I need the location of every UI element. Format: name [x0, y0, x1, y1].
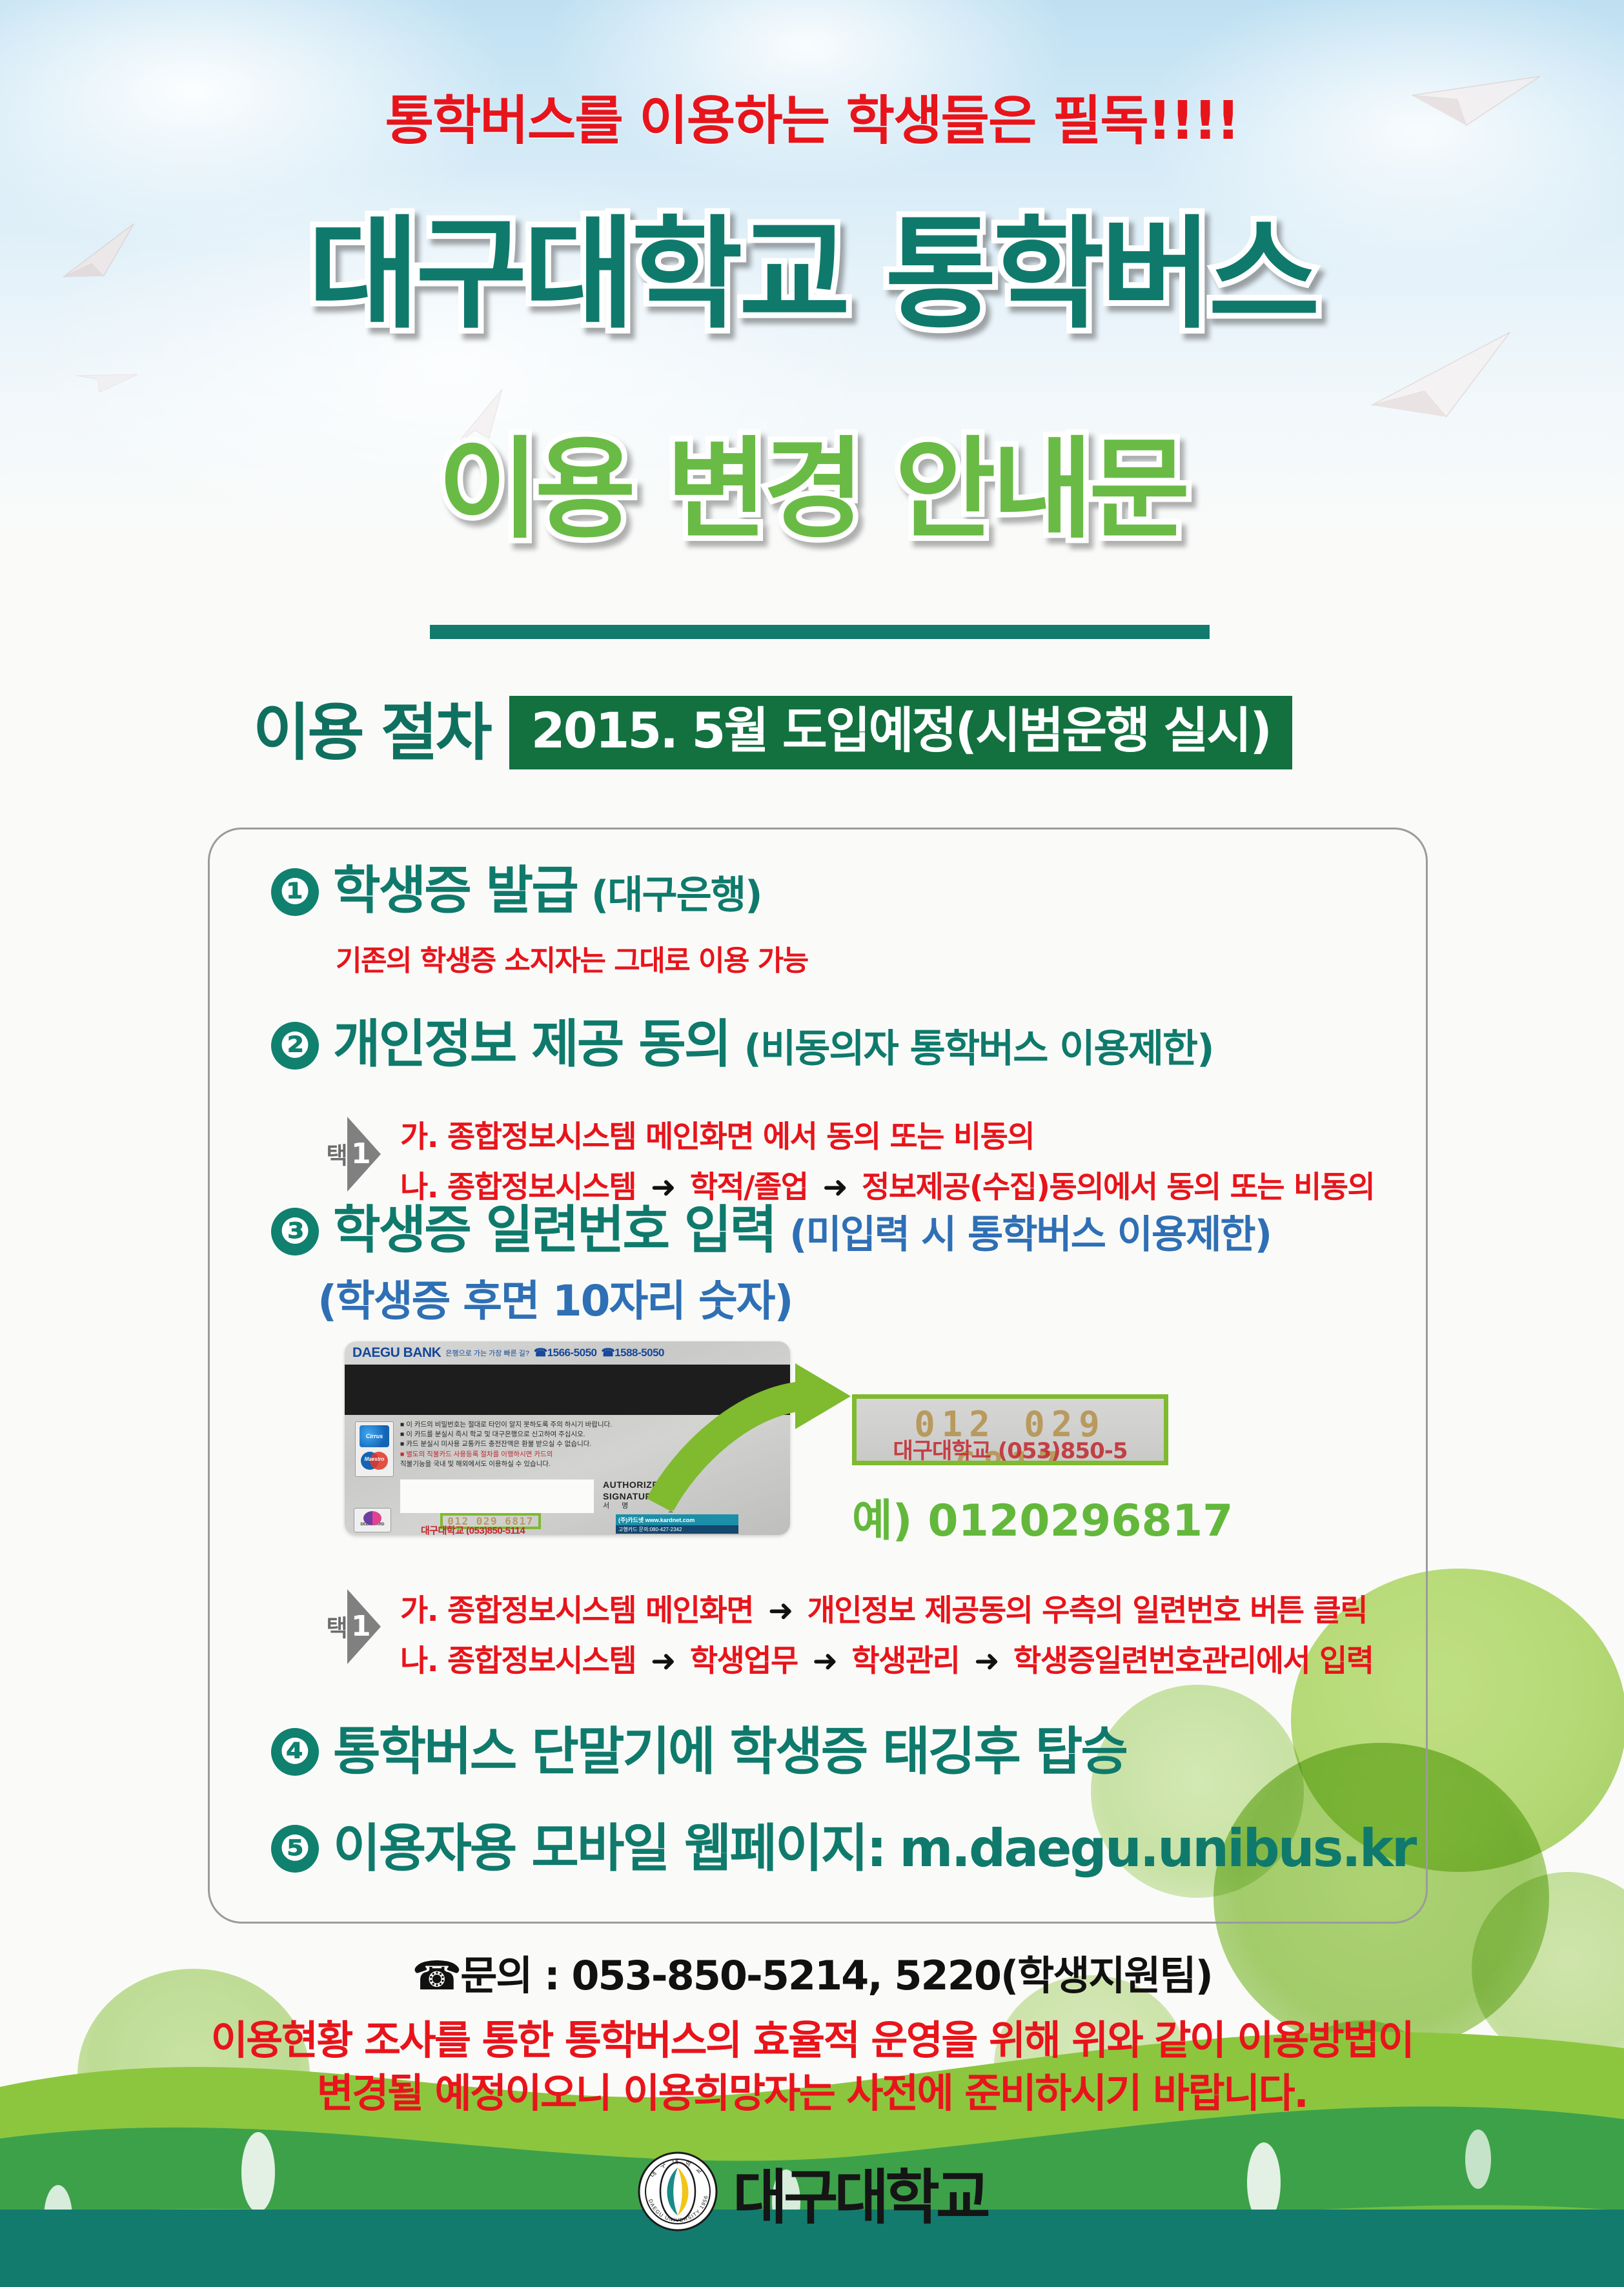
option-prefix: 가. [400, 1119, 438, 1155]
section-header: 이용 절차 2015. 5월 도입예정(시범운행 실시) [253, 696, 1292, 769]
step-number: ❹ [271, 1728, 319, 1776]
pick-label: 택 [323, 1616, 346, 1638]
maestro-label: Maestro [360, 1456, 389, 1462]
step-5: ❺ 이용자용 모바일 웹페이지: m.daegu.unibus.kr [271, 1822, 1415, 1876]
option-row: 나. 종합정보시스템 ➜ 학생업무 ➜ 학생관리 ➜ 학생증일련번호관리에서 입… [400, 1636, 1374, 1680]
option-part: 종합정보시스템 메인화면 [447, 1593, 753, 1629]
card-network-logos: Cirrus Maestro [355, 1421, 394, 1477]
card-bank-tel-2: ☎1588-5050 [602, 1347, 664, 1359]
kardnet-line-1: (주)카드넷 www.kardnet.com [616, 1514, 738, 1525]
card-university-line: 대구대학교 (053)850-5114 [421, 1523, 525, 1535]
step-number: ❷ [271, 1022, 319, 1070]
pick-count: 1 [351, 1612, 371, 1641]
contact-line: ☎문의 : 053-850-5214, 5220(학생지원팀) [0, 1943, 1624, 2001]
option-row: 가. 종합정보시스템 메인화면 ➜ 개인정보 제공동의 우측의 일련번호 버튼 … [400, 1585, 1367, 1630]
pick-count: 1 [351, 1140, 371, 1168]
notice-line-1: 이용현황 조사를 통한 통학버스의 효율적 운영을 위해 위와 같이 이용방법이 [0, 2014, 1624, 2067]
step-3-subtitle: (학생증 후면 10자리 숫자) [318, 1266, 793, 1328]
option-row: 가. 종합정보시스템 메인화면 에서 동의 또는 비동의 [400, 1112, 1034, 1156]
university-name: 대구대학교 [733, 2150, 986, 2235]
arrow-icon: ➜ [817, 1170, 852, 1205]
university-brand: 대 구 대 학 교 DAEGU UNIVERSITY 1956 대구대학교 [0, 2150, 1624, 2235]
step-4: ❹ 통학버스 단말기에 학생증 태깅후 탑승 [271, 1725, 1126, 1779]
section-label: 이용 절차 [253, 702, 490, 764]
pick-triangle-icon: 1 [347, 1117, 381, 1192]
card-bank-header: DAEGU BANK 은행으로 가는 가장 빠른 길? ☎1566-5050 ☎… [345, 1341, 790, 1365]
step-paren: (비동의자 통학버스 이용제한) [744, 1017, 1213, 1073]
arrow-icon: ➜ [969, 1643, 1004, 1679]
step-title: 이용자용 모바일 웹페이지: [333, 1822, 885, 1876]
option-part: 종합정보시스템 [447, 1643, 636, 1679]
option-prefix: 나. [400, 1643, 438, 1679]
arrow-icon: ➜ [763, 1593, 798, 1629]
pick-one-marker: 택 1 [323, 1117, 381, 1192]
kardnet-block: (주)카드넷 www.kardnet.com 고행카드 문의:080-427-2… [616, 1514, 738, 1532]
zoom-under-text: 대구대학교 (053)850-5 [857, 1433, 1164, 1465]
signature-panel [400, 1479, 594, 1513]
status-badge: 2015. 5월 도입예정(시범운행 실시) [509, 696, 1292, 769]
page-title: 대구대학교 통학버스 [0, 213, 1624, 337]
step-number: ❸ [271, 1208, 319, 1255]
pick-label: 택 [323, 1143, 346, 1165]
notice-block: 이용현황 조사를 통한 통학버스의 효율적 운영을 위해 위와 같이 이용방법이… [0, 2014, 1624, 2120]
step-title: 학생증 일련번호 입력 [333, 1203, 775, 1257]
step-title: 개인정보 제공 동의 [333, 1017, 730, 1072]
step-3: ❸ 학생증 일련번호 입력 (미입력 시 통학버스 이용제한) [271, 1203, 1271, 1259]
step-paren: (미입력 시 통학버스 이용제한) [789, 1203, 1271, 1259]
title-divider [430, 625, 1210, 639]
option-part: 정보제공(수집)동의에서 동의 또는 비동의 [862, 1170, 1374, 1205]
option-part: 학생관리 [851, 1643, 959, 1679]
university-seal-icon: 대 구 대 학 교 DAEGU UNIVERSITY 1956 [637, 2151, 718, 2235]
notice-line-2: 변경될 예정이오니 이용희망자는 사전에 준비하시기 바랍니다. [0, 2067, 1624, 2120]
pick-one-marker: 택 1 [323, 1589, 381, 1664]
card-bank-name: DAEGU BANK [352, 1345, 441, 1361]
kicker-text: 통학버스를 이용하는 학생들은 필독!!!! [0, 77, 1624, 154]
step-number: ❶ [271, 868, 319, 916]
step-1-note: 기존의 학생증 소지자는 그대로 이용 가능 [336, 937, 808, 979]
serial-example: 예) 0120296817 [852, 1485, 1233, 1549]
option-part: 학생업무 [690, 1643, 798, 1679]
poster-root: 통학버스를 이용하는 학생들은 필독!!!! 대구대학교 통학버스 이용 변경 … [0, 0, 1624, 2287]
serial-zoom-callout: 012 029 6817 대구대학교 (053)850-5 [852, 1394, 1168, 1465]
step-title: 통학버스 단말기에 학생증 태깅후 탑승 [333, 1725, 1126, 1779]
pick-triangle-icon: 1 [347, 1589, 381, 1664]
card-bank-slogan: 은행으로 가는 가장 빠른 길? [445, 1348, 529, 1358]
maestro-icon: Maestro [360, 1450, 389, 1472]
step-paren: (대구은행) [591, 864, 762, 920]
arrow-icon: ➜ [807, 1643, 842, 1679]
page-subtitle: 이용 변경 안내문 [0, 400, 1624, 559]
option-part: 종합정보시스템 메인화면 에서 동의 또는 비동의 [447, 1119, 1034, 1155]
step-2: ❷ 개인정보 제공 동의 (비동의자 통학버스 이용제한) [271, 1017, 1213, 1073]
kardnet-line-2: 고행카드 문의:080-427-2342 [616, 1525, 738, 1534]
step-number: ❺ [271, 1825, 319, 1873]
step-1: ❶ 학생증 발급 (대구은행) [271, 864, 762, 920]
option-part: 학생증일련번호관리에서 입력 [1013, 1643, 1373, 1679]
debit-card-logo: DEBIT CARD [354, 1508, 391, 1532]
mobile-web-url[interactable]: m.daegu.unibus.kr [899, 1822, 1415, 1876]
option-part: 개인정보 제공동의 우측의 일련번호 버튼 클릭 [807, 1593, 1367, 1629]
cirrus-icon: Cirrus [360, 1425, 389, 1447]
card-bank-tel-1: ☎1566-5050 [534, 1347, 596, 1359]
callout-arrow-icon [645, 1362, 865, 1513]
arrow-icon: ➜ [645, 1643, 680, 1679]
step-title: 학생증 발급 [333, 864, 577, 918]
option-prefix: 가. [400, 1593, 438, 1629]
